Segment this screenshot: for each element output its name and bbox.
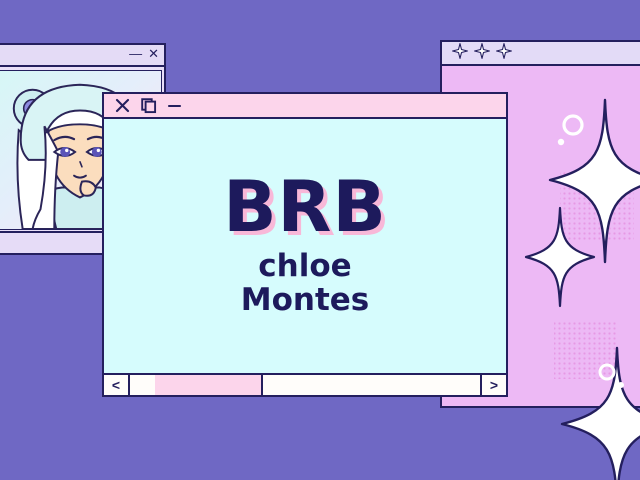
restore-icon[interactable] <box>140 97 157 114</box>
minimize-icon[interactable] <box>166 97 183 114</box>
photo-window-titlebar[interactable]: — ✕ <box>0 45 164 67</box>
author-last-name: Montes <box>241 283 370 318</box>
horizontal-scrollbar[interactable]: < > <box>104 373 506 395</box>
scroll-right-button[interactable]: > <box>480 375 506 395</box>
brb-window-titlebar[interactable] <box>104 94 506 119</box>
scrollbar-thumb[interactable] <box>155 375 264 395</box>
brb-window-content: BRB chloe Montes <box>104 119 506 373</box>
minimize-icon[interactable]: — <box>129 46 142 62</box>
sparkle-diamond-icon <box>496 43 512 64</box>
author-first-name: chloe <box>241 249 370 284</box>
sparkle-diamond-icon <box>452 43 468 64</box>
brb-window[interactable]: BRB chloe Montes < > <box>102 92 508 397</box>
screenshot-canvas: — ✕ <box>0 0 640 480</box>
scrollbar-track[interactable] <box>130 375 480 395</box>
close-icon[interactable] <box>114 97 131 114</box>
page-title: BRB <box>223 174 387 241</box>
scroll-left-button[interactable]: < <box>104 375 130 395</box>
sparkle-window-titlebar[interactable] <box>442 42 640 66</box>
close-icon[interactable]: ✕ <box>148 46 159 62</box>
author-name: chloe Montes <box>241 249 370 318</box>
sparkle-diamond-icon <box>474 43 490 64</box>
